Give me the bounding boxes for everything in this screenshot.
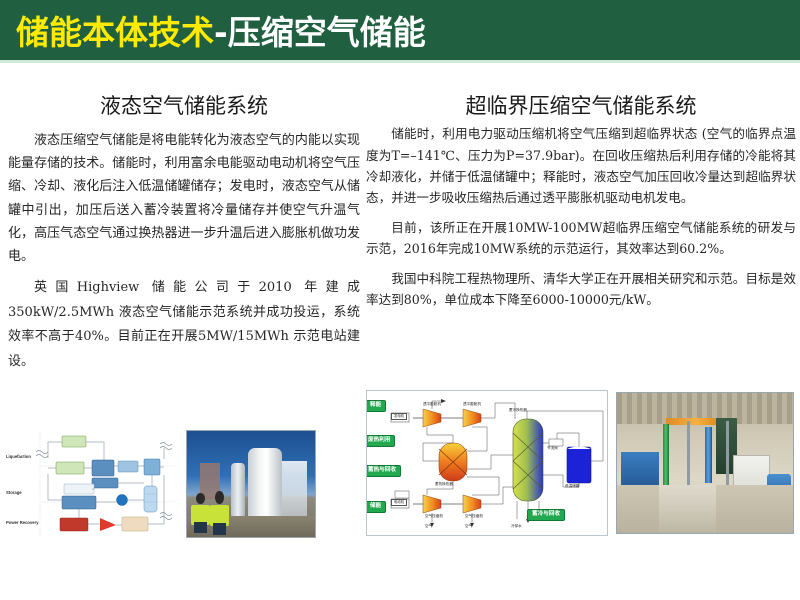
slide-header-bar: 储能本体技术-压缩空气储能 bbox=[0, 0, 800, 63]
right-column: 超临界压缩空气储能系统 储能时，利用电力驱动压缩机将空气压缩到超临界状态 (空气… bbox=[366, 72, 796, 318]
hall-floor bbox=[617, 485, 793, 533]
flow-label-compressor-1: 空气压缩机 bbox=[425, 515, 443, 519]
liquid-air-schematic-image: Liquefaction Storage Power Recovery bbox=[4, 428, 180, 540]
flow-label-compressor-2: 空气压缩机 bbox=[465, 515, 483, 519]
flow-label-expander-2: 透平膨胀机 bbox=[463, 403, 481, 407]
flow-label-motor: 电动机 bbox=[391, 499, 407, 506]
plant-secondary-tank bbox=[231, 463, 245, 516]
flow-label-air-inlet-1: 空气 bbox=[425, 525, 432, 529]
flow-label-generator: 发电机 bbox=[391, 413, 407, 420]
right-paragraph-1: 储能时，利用电力驱动压缩机将空气压缩到超临界状态 (空气的临界点温度为T=–14… bbox=[366, 123, 796, 209]
right-media-row: 释能 废热利用 蓄热与回收 储能 蓄冷与回收 透平膨胀机 透平膨胀机 蓄冷换热器… bbox=[366, 390, 796, 538]
right-column-heading: 超临界压缩空气储能系统 bbox=[366, 94, 796, 119]
left-column: 液态空气储能系统 液态压缩空气储能是将电能转化为液态空气的内能以实现能量存储的技… bbox=[8, 72, 360, 383]
left-media-row: Liquefaction Storage Power Recovery bbox=[4, 428, 360, 540]
flow-label-cooling-water: 冷却水 bbox=[511, 525, 522, 529]
flow-label-air-inlet-2: 空气 bbox=[465, 525, 472, 529]
flow-tag-heat-storage-recovery: 蓄热与回收 bbox=[366, 465, 401, 477]
schematic-label-liquefaction: Liquefaction bbox=[6, 454, 31, 459]
flow-label-throttle-valve: 节流阀 bbox=[547, 447, 558, 451]
plant-structure bbox=[282, 461, 308, 516]
right-paragraph-3: 我国中科院工程热物理所、清华大学正在开展相关研究和示范。目标是效率达到80%，单… bbox=[366, 268, 796, 311]
caes-plant-interior-photo bbox=[616, 392, 794, 534]
blue-pipe bbox=[705, 427, 712, 483]
flow-label-expander-1: 透平膨胀机 bbox=[423, 403, 441, 407]
liquid-air-plant-photo bbox=[186, 430, 316, 538]
supercritical-caes-flow-diagram: 释能 废热利用 蓄热与回收 储能 蓄冷与回收 透平膨胀机 透平膨胀机 蓄冷换热器… bbox=[366, 390, 608, 536]
plant-storage-tank bbox=[248, 448, 281, 518]
schematic-label-power-recovery: Power Recovery bbox=[6, 520, 39, 525]
left-paragraph-2: 英国Highview 储能公司于2010 年建成350kW/2.5MWh 液态空… bbox=[8, 276, 360, 375]
flow-label-heat-exchanger: 蓄热换热器 bbox=[435, 483, 453, 487]
plant-worker bbox=[191, 488, 210, 533]
title-highlight-text: 储能本体技术 bbox=[16, 13, 214, 52]
left-paragraph-1: 液态压缩空气储能是将电能转化为液态空气的内能以实现能量存储的技术。储能时，利用富… bbox=[8, 129, 360, 268]
flow-label-cryo-tank: 低温储罐 bbox=[565, 485, 579, 489]
flow-tag-release-energy: 释能 bbox=[366, 400, 386, 412]
title-rest-text: -压缩空气储能 bbox=[214, 13, 426, 52]
slide-header-title: 储能本体技术-压缩空气储能 bbox=[0, 6, 426, 54]
plant-worker bbox=[210, 486, 229, 535]
flow-tag-waste-heat-use: 废热利用 bbox=[366, 435, 395, 447]
flow-tag-store-energy: 储能 bbox=[366, 501, 386, 513]
flow-label-cold-exchanger: 蓄冷换热器 bbox=[509, 409, 527, 413]
right-paragraph-2: 目前，该所正在开展10MW-100MW超临界压缩空气储能系统的研发与示范，201… bbox=[366, 217, 796, 260]
schematic-label-storage: Storage bbox=[6, 490, 22, 495]
left-column-heading: 液态空气储能系统 bbox=[8, 94, 360, 119]
flow-tag-cold-storage-recovery: 蓄冷与回收 bbox=[527, 509, 565, 521]
